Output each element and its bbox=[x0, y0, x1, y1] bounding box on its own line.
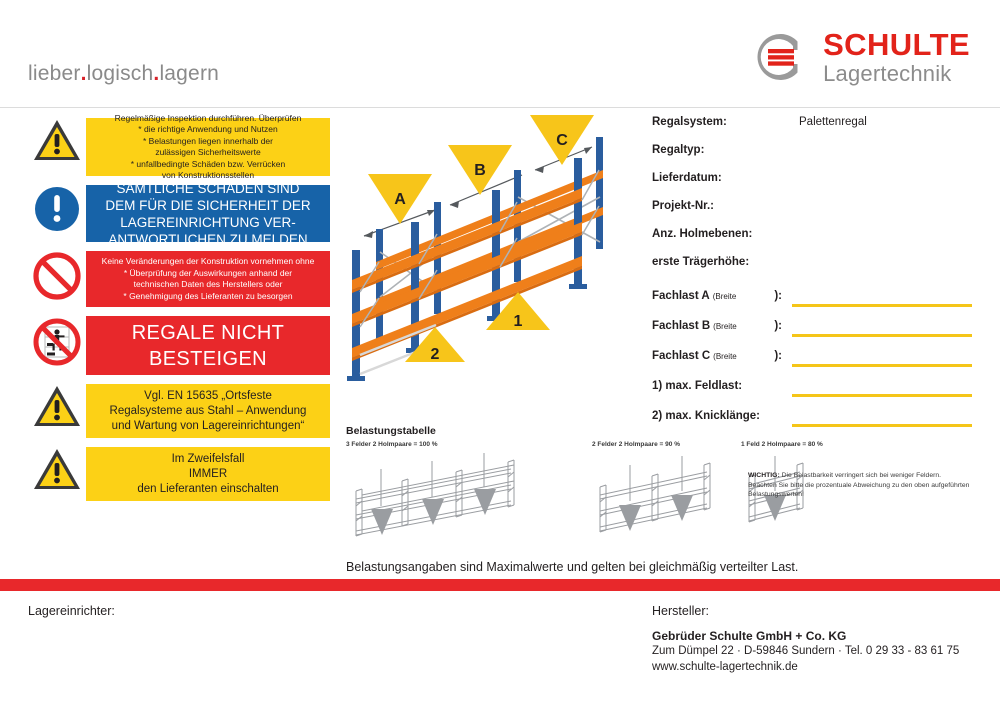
safety-instruction-sheet: lieber.logisch.lagern SCHULTE Lagertechn… bbox=[0, 0, 1000, 712]
marker-triangle-a: A bbox=[368, 174, 432, 224]
form-label-text: Fachlast C bbox=[652, 350, 710, 362]
warning-line: * Genehmigung des Lieferanten zu besorge… bbox=[94, 291, 322, 303]
warning-line: REGALE NICHT bbox=[94, 320, 322, 346]
pallet-rack-diagram: A B C 1 2 bbox=[340, 112, 640, 412]
prohibition-icon bbox=[28, 251, 86, 301]
brand-tagline: lieber.logisch.lagern bbox=[28, 62, 219, 86]
form-label-text: Fachlast B bbox=[652, 320, 710, 332]
footer-installer-label: Lagereinrichter: bbox=[28, 604, 115, 618]
load-values-note: Belastungsangaben sind Maximalwerte und … bbox=[346, 560, 798, 574]
no-climbing-icon bbox=[28, 316, 86, 368]
form-label-sub: (Breite bbox=[713, 292, 737, 301]
footer-address: Zum Dümpel 22 · D-59846 Sundern · Tel. 0… bbox=[652, 644, 959, 660]
warning-item: SÄMTLICHE SCHÄDEN SIND DEM FÜR DIE SICHE… bbox=[28, 185, 330, 242]
footer-website[interactable]: www.schulte-lagertechnik.de bbox=[652, 660, 959, 676]
load-table-item-3-bays: 3 Felder 2 Holmpaare = 100 % bbox=[346, 441, 531, 546]
warning-line: * Überprüfung der Auswirkungen anhand de… bbox=[94, 268, 322, 280]
form-label: Regalsystem: bbox=[652, 116, 789, 128]
warning-triangle-icon bbox=[28, 447, 86, 492]
warning-line: zulässigen Sicherheitswerte bbox=[94, 147, 322, 159]
warning-list: Regelmäßige Inspektion durchführen. Über… bbox=[28, 118, 330, 510]
svg-text:A: A bbox=[394, 191, 406, 208]
form-value-regalsystem[interactable]: Palettenregal bbox=[799, 116, 867, 128]
warning-line: BESTEIGEN bbox=[94, 346, 322, 372]
form-row-holmebenen: Anz. Holmebenen: bbox=[652, 228, 972, 256]
warning-text-box: Im Zweifelsfall IMMER den Lieferanten ei… bbox=[86, 447, 330, 501]
form-label: 2) max. Knicklänge: bbox=[652, 410, 782, 422]
specification-form: Regalsystem: Palettenregal Regaltyp: Lie… bbox=[652, 116, 972, 440]
warning-line: IMMER bbox=[94, 467, 322, 482]
svg-text:C: C bbox=[556, 132, 568, 149]
warning-line: Im Zweifelsfall bbox=[94, 452, 322, 467]
tagline-word-2: logisch bbox=[87, 62, 154, 85]
page-header: lieber.logisch.lagern SCHULTE Lagertechn… bbox=[0, 0, 1000, 107]
form-row-feldlast: 1) max. Feldlast: bbox=[652, 380, 972, 410]
form-label: Fachlast C(Breite bbox=[652, 350, 752, 362]
marker-triangle-c: C bbox=[530, 115, 594, 165]
warning-item: REGALE NICHT BESTEIGEN bbox=[28, 316, 330, 375]
warning-line: Vgl. EN 15635 „Ortsfeste bbox=[94, 389, 322, 404]
form-label: erste Trägerhöhe: bbox=[652, 256, 789, 268]
warning-triangle-icon bbox=[28, 384, 86, 429]
form-row-regaltyp: Regaltyp: bbox=[652, 144, 972, 172]
warning-item: Keine Veränderungen der Konstruktion vor… bbox=[28, 251, 330, 307]
warning-line: und Wartung von Lagereinrichtungen“ bbox=[94, 419, 322, 434]
warning-line: Regelmäßige Inspektion durchführen. Über… bbox=[94, 113, 322, 125]
warning-text-box: Vgl. EN 15635 „Ortsfeste Regalsysteme au… bbox=[86, 384, 330, 438]
load-table-caption: 1 Feld 2 Holmpaare = 80 % bbox=[741, 441, 836, 448]
tagline-word-1: lieber bbox=[28, 62, 81, 85]
form-label: 1) max. Feldlast: bbox=[652, 380, 782, 392]
schulte-logo: SCHULTE Lagertechnik bbox=[753, 28, 970, 86]
form-label-sub: (Breite bbox=[713, 322, 737, 331]
form-paren: ): bbox=[752, 290, 782, 302]
warning-text-box: Regelmäßige Inspektion durchführen. Über… bbox=[86, 118, 330, 176]
warning-item: Im Zweifelsfall IMMER den Lieferanten ei… bbox=[28, 447, 330, 501]
form-row-projektnr: Projekt-Nr.: bbox=[652, 200, 972, 228]
form-row-traegerhoehe: erste Trägerhöhe: bbox=[652, 256, 972, 290]
form-row-fachlast-b: Fachlast B(Breite ): bbox=[652, 320, 972, 350]
footer-manufacturer: Hersteller: Gebrüder Schulte GmbH + Co. … bbox=[652, 604, 959, 675]
form-label: Fachlast B(Breite bbox=[652, 320, 752, 332]
footer-company-name: Gebrüder Schulte GmbH + Co. KG bbox=[652, 629, 959, 645]
warning-triangle-icon bbox=[28, 118, 86, 163]
form-label: Anz. Holmebenen: bbox=[652, 228, 789, 240]
svg-text:2: 2 bbox=[431, 346, 440, 363]
form-label: Lieferdatum: bbox=[652, 172, 789, 184]
warning-line: * Belastungen liegen innerhalb der bbox=[94, 136, 322, 148]
form-row-fachlast-c: Fachlast C(Breite ): bbox=[652, 350, 972, 380]
warning-line: SÄMTLICHE SCHÄDEN SIND bbox=[94, 180, 322, 197]
form-fill-line[interactable] bbox=[792, 394, 972, 397]
rack-sketch-3-bays bbox=[346, 451, 531, 541]
warning-item: Vgl. EN 15635 „Ortsfeste Regalsysteme au… bbox=[28, 384, 330, 438]
form-paren: ): bbox=[752, 350, 782, 362]
form-paren: ): bbox=[752, 320, 782, 332]
form-label: Regaltyp: bbox=[652, 144, 789, 156]
form-row-fachlast-a: Fachlast A(Breite ): bbox=[652, 290, 972, 320]
important-note: WICHTIG: Die Belastbarkeit verringert si… bbox=[748, 471, 970, 500]
footer-manufacturer-label: Hersteller: bbox=[652, 604, 959, 620]
form-label-sub: (Breite bbox=[713, 352, 737, 361]
logo-sub-text: Lagertechnik bbox=[823, 63, 970, 85]
warning-line: technischen Daten des Herstellers oder bbox=[94, 279, 322, 291]
form-label-text: Fachlast A bbox=[652, 290, 710, 302]
tagline-word-3: lagern bbox=[159, 62, 219, 85]
logo-wordmark: SCHULTE Lagertechnik bbox=[823, 29, 970, 85]
form-label: Fachlast A(Breite bbox=[652, 290, 752, 302]
warning-line: LAGEREINRICHTUNG VER- bbox=[94, 214, 322, 231]
load-table-title: Belastungstabelle bbox=[346, 425, 966, 437]
rack-illustration: A B C 1 2 bbox=[340, 112, 640, 412]
warning-line: Regalsysteme aus Stahl – Anwendung bbox=[94, 404, 322, 419]
rack-sketch-2-bays bbox=[592, 451, 727, 541]
marker-triangle-b: B bbox=[448, 145, 512, 195]
form-label: Projekt-Nr.: bbox=[652, 200, 789, 212]
warning-line: den Lieferanten einschalten bbox=[94, 482, 322, 497]
warning-line: Keine Veränderungen der Konstruktion vor… bbox=[94, 256, 322, 268]
logo-mark-icon bbox=[753, 28, 811, 86]
form-fill-line[interactable] bbox=[792, 304, 972, 307]
warning-line: * die richtige Anwendung und Nutzen bbox=[94, 124, 322, 136]
warning-text-box: SÄMTLICHE SCHÄDEN SIND DEM FÜR DIE SICHE… bbox=[86, 185, 330, 242]
warning-line: * unfallbedingte Schäden bzw. Verrücken bbox=[94, 159, 322, 171]
load-table-caption: 2 Felder 2 Holmpaare = 90 % bbox=[592, 441, 727, 448]
footer-red-divider bbox=[0, 579, 1000, 591]
form-row-lieferdatum: Lieferdatum: bbox=[652, 172, 972, 200]
mandatory-exclamation-icon bbox=[28, 185, 86, 233]
warning-text-box: Keine Veränderungen der Konstruktion vor… bbox=[86, 251, 330, 307]
header-divider bbox=[0, 107, 1000, 108]
svg-text:1: 1 bbox=[514, 313, 523, 330]
warning-item: Regelmäßige Inspektion durchführen. Über… bbox=[28, 118, 330, 176]
important-text: Die Belastbarkeit verringert sich bei we… bbox=[748, 472, 969, 498]
form-row-regalsystem: Regalsystem: Palettenregal bbox=[652, 116, 972, 144]
load-table-item-2-bays: 2 Felder 2 Holmpaare = 90 % bbox=[592, 441, 727, 546]
load-table-caption: 3 Felder 2 Holmpaare = 100 % bbox=[346, 441, 531, 448]
important-label: WICHTIG: bbox=[748, 472, 780, 479]
warning-text-box: REGALE NICHT BESTEIGEN bbox=[86, 316, 330, 375]
warning-line: ANTWORTLICHEN ZU MELDEN bbox=[94, 231, 322, 248]
logo-main-text: SCHULTE bbox=[823, 29, 970, 60]
form-fill-line[interactable] bbox=[792, 364, 972, 367]
svg-text:B: B bbox=[474, 162, 486, 179]
form-fill-line[interactable] bbox=[792, 334, 972, 337]
warning-line: DEM FÜR DIE SICHERHEIT DER bbox=[94, 197, 322, 214]
